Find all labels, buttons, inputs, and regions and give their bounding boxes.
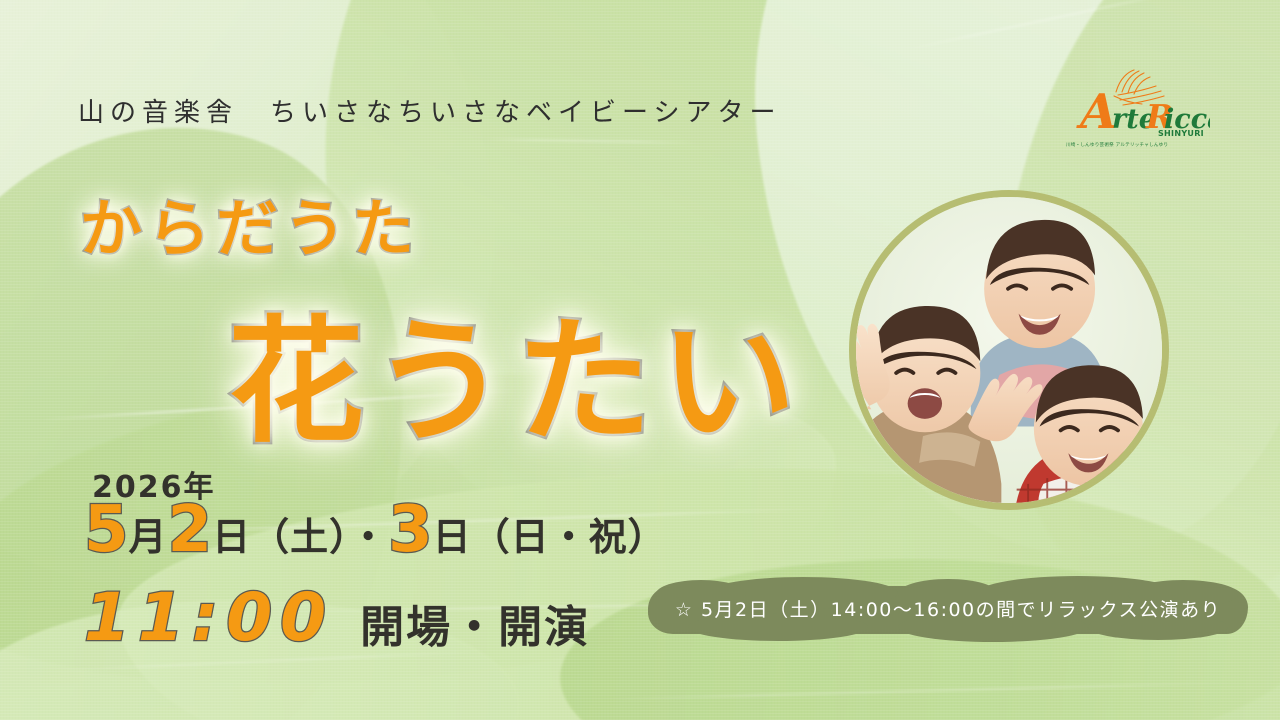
svg-text:SHINYURI: SHINYURI bbox=[1158, 129, 1204, 138]
day2-kanji: 日（日・祝） bbox=[433, 515, 667, 561]
brush-vein bbox=[480, 138, 700, 144]
baby-photo bbox=[849, 190, 1169, 510]
month-number: 5 bbox=[84, 500, 129, 561]
performance-date: 5 月 2 日（土）・ 3 日（日・祝） bbox=[84, 500, 667, 561]
relax-performance-banner: ☆ 5月2日（土）14:00〜16:00の間でリラックス公演あり bbox=[648, 586, 1248, 634]
title-subtitle: からだうた bbox=[80, 178, 420, 268]
brush-vein bbox=[600, 682, 1240, 701]
performance-time: 11:00 開場・開演 bbox=[84, 585, 590, 651]
banner-text: ☆ 5月2日（土）14:00〜16:00の間でリラックス公演あり bbox=[648, 595, 1248, 622]
arte-ricca-logo: A rte R icca SHINYURI 川崎・しんゆり芸術祭 アルテリッチャ… bbox=[1060, 62, 1210, 147]
headline-text: 山の音楽舎 ちいさなちいさなベイビーシアター bbox=[78, 92, 781, 129]
logo-subtitle: 川崎・しんゆり芸術祭 アルテリッチャしんゆり bbox=[1066, 142, 1168, 148]
poster-canvas: 山の音楽舎 ちいさなちいさなベイビーシアター A rte R icca SHIN… bbox=[0, 0, 1280, 720]
day1-number: 2 bbox=[168, 500, 213, 561]
day1-kanji: 日（土）・ bbox=[212, 515, 388, 561]
time-label: 開場・開演 bbox=[360, 605, 590, 651]
title-main: 花うたい bbox=[228, 272, 804, 469]
clock-time: 11:00 bbox=[84, 585, 334, 651]
month-kanji: 月 bbox=[129, 515, 168, 561]
brush-vein bbox=[903, 0, 1197, 51]
day2-number: 3 bbox=[388, 500, 433, 561]
